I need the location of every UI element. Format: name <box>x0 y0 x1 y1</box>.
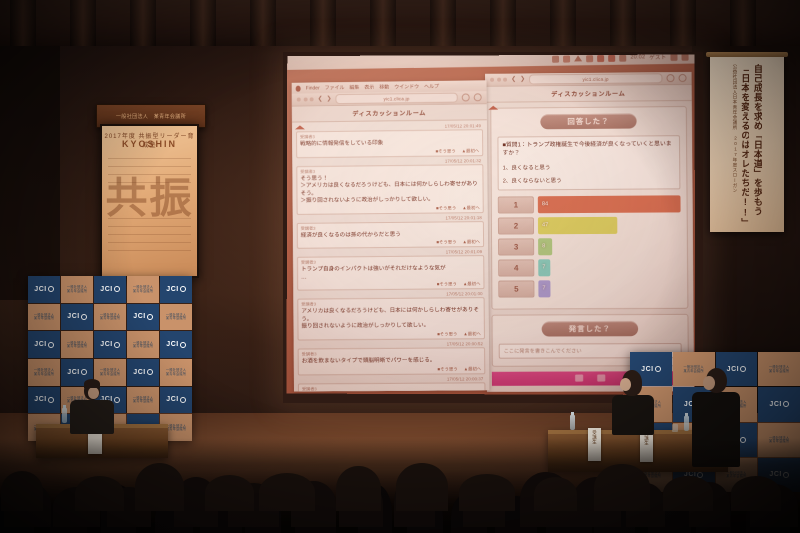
menu-go[interactable]: 移動 <box>379 84 389 91</box>
menu-finder[interactable]: Finder <box>306 85 320 91</box>
backdrop-tile: JCI <box>94 276 126 303</box>
backdrop-tile: 一般社団法人某青年会議所 <box>28 304 60 331</box>
message-actions: ■そう思う▲最初へ <box>301 282 480 289</box>
jump-top-link[interactable]: ▲最初へ <box>463 331 481 337</box>
back-icon-left[interactable]: ❮ <box>318 96 323 102</box>
message-text: アメリカは良くなるだろうけども、日本には何かしらしわ寄せがありそう。振り回されな… <box>301 308 481 332</box>
audience-member <box>259 473 315 511</box>
slogan-banner: 自己成長を求め「日本道」を歩もう 「日本を変えるのはオレたちだ!!」 公益社団法… <box>710 56 784 232</box>
jci-logo: JCI <box>769 401 788 408</box>
menu-view[interactable]: 表示 <box>364 84 374 91</box>
jci-logo: JCI <box>67 313 86 320</box>
bar-value: 84 <box>542 202 548 208</box>
jci-logo: JCI <box>166 341 185 348</box>
browser-window-chat[interactable]: Finder ファイル 編集 表示 移動 ウインドウ ヘルプ ❮ ❯ yic1.… <box>292 80 490 391</box>
jci-logo: JCI <box>100 341 119 348</box>
hall-sign-text: 一般社団法人 某青年会議所 <box>116 113 186 120</box>
search-icon[interactable] <box>670 55 677 61</box>
water-bottle-3 <box>684 416 689 431</box>
poll-option-2: 2、良くならないと思う <box>503 175 676 184</box>
address-bar-right[interactable]: yic1.clica.jp <box>529 73 662 84</box>
chat-message: 17/05/12 20:00:52受講者3お酒を飲まないタイプで頭脳明晰でパワー… <box>298 341 486 375</box>
share-icon[interactable] <box>679 74 687 82</box>
bar-track: 47 <box>538 216 681 234</box>
backdrop-tile: 一般社団法人某青年会議所 <box>758 352 800 386</box>
audience-member <box>663 476 713 511</box>
backdrop-org-text: 一般社団法人某青年会議所 <box>34 314 54 321</box>
slogan-line-2: 「日本を変えるのはオレたちだ!!」 <box>740 64 749 224</box>
display-icon[interactable] <box>563 55 570 62</box>
back-icon[interactable]: ❮ <box>511 77 516 83</box>
bar-category-label: 3 <box>498 238 534 255</box>
jci-logo: JCI <box>133 369 152 376</box>
bar-category-label: 2 <box>498 217 534 234</box>
backdrop-tile: JCI <box>160 387 192 414</box>
banner-rod <box>706 52 788 57</box>
url-text-right: yic1.clica.jp <box>583 76 609 81</box>
agree-link[interactable]: ■そう思う <box>436 148 456 154</box>
bar-category-label: 4 <box>498 259 534 276</box>
agree-link[interactable]: ■そう思う <box>437 282 457 288</box>
jci-logo: JCI <box>34 396 53 403</box>
jump-top-link[interactable]: ▲最初へ <box>462 205 480 211</box>
backdrop-tile: 一般社団法人某青年会議所 <box>61 331 93 358</box>
battery-icon[interactable] <box>619 55 626 62</box>
message-bubble: 受講者3戦略的に情報発信をしている印象■そう思う▲最初へ <box>296 129 483 158</box>
agree-link[interactable]: ■そう思う <box>437 366 457 372</box>
backdrop-tile: 一般社団法人某青年会議所 <box>160 304 192 331</box>
jump-top-link[interactable]: ▲最初へ <box>463 282 481 288</box>
message-text: そう思う！＞アメリカは良くなるだろうけども、日本には何かしらしわ寄せがありそう。… <box>300 174 479 206</box>
chat-message: 17/05/12 20:01:09受講者3トランプ自身のインパクトは強いがそれだ… <box>297 249 485 291</box>
audience-member <box>205 475 255 511</box>
bar-value: 8 <box>542 244 545 250</box>
message-actions: ■そう思う▲最初へ <box>302 366 482 373</box>
menu-help[interactable]: ヘルプ <box>424 83 439 90</box>
backdrop-org-text: 一般社団法人某青年会議所 <box>34 369 54 376</box>
poster-roman-title: KYOSHIN <box>102 139 197 149</box>
question-box: ■質問1：トランプ政権誕生で今後経済が良くなっていくと思いますか？ 1、良くなる… <box>497 135 680 190</box>
bar-fill: 7 <box>538 280 550 297</box>
backdrop-tile: JCI <box>28 387 60 414</box>
conference-hall-scene: 20:02 ゲスト ❮ ❯ yic1.clica.jp <box>0 0 800 533</box>
message-bubble: 受講者3アメリカは良くなるだろうけども、日本には何かしらしわ寄せがありそう。振り… <box>297 298 485 341</box>
backdrop-org-text: 一般社団法人某青年会議所 <box>769 366 789 373</box>
chat-message: 17/05/12 20:01:00受講者3アメリカは良くなるだろうけども、日本に… <box>297 292 485 341</box>
message-actions: ■そう思う▲最初へ <box>301 205 480 213</box>
training-poster: 2017年度 共振型リーダー育成塾 KYOSHIN 共振 <box>100 124 199 278</box>
chat-message: 17/05/12 20:01:18受講者3経済が良くなるのは孫の代からだと思う■… <box>297 215 484 249</box>
bar-track: 7 <box>538 279 681 297</box>
jci-logo: JCI <box>133 313 152 320</box>
backdrop-org-text: 一般社団法人某青年会議所 <box>166 425 186 432</box>
backdrop-tile: JCI <box>127 304 159 331</box>
apple-logo-icon[interactable] <box>296 85 301 91</box>
answered-button-label: 回答した？ <box>567 116 609 127</box>
jci-logo: JCI <box>641 366 660 373</box>
chat-message: 17/05/12 20:01:49受講者3戦略的に情報発信をしている印象■そう思… <box>296 123 483 158</box>
bar-value: 7 <box>542 265 545 271</box>
question-text: ■質問1：トランプ政権誕生で今後経済が良くなっていくと思いますか？ <box>502 140 675 158</box>
bluetooth-icon[interactable] <box>608 55 615 62</box>
message-bubble: 受講者3トランプ自身のインパクトは強いがそれだけなような気が…■そう思う▲最初へ <box>297 255 485 291</box>
backdrop-tile: 一般社団法人某青年会議所 <box>28 359 60 386</box>
audience-member <box>1 471 43 511</box>
bar-category-label: 5 <box>498 280 534 297</box>
message-actions: ■そう思う▲最初へ <box>301 239 480 247</box>
bar-value: 47 <box>542 223 548 229</box>
bar-row[interactable]: 247 <box>498 216 681 234</box>
message-timestamp: 17/05/12 20:00:37 <box>298 376 485 382</box>
bar-fill: 84 <box>538 195 681 213</box>
backdrop-org-text: 一般社団法人某青年会議所 <box>683 366 703 373</box>
message-bubble: 受講者3お酒を飲まないタイプで頭脳明晰でパワーを感じる。■そう思う▲最初へ <box>298 347 486 375</box>
right-app-header: ディスカッションルーム <box>485 85 692 103</box>
right-app-title: ディスカッションルーム <box>551 89 625 99</box>
jump-top-link[interactable]: ▲最初へ <box>464 366 482 372</box>
bar-row[interactable]: 47 <box>498 258 681 276</box>
jump-top-link[interactable]: ▲最初へ <box>463 239 481 245</box>
message-bubble: 受講者3草間くんはどう思う？■そう思う▲最初へ <box>298 382 486 392</box>
post-button-label: 発言した？ <box>569 323 611 334</box>
backdrop-org-text: 一般社団法人某青年会議所 <box>166 314 186 321</box>
bar-track: 84 <box>538 195 681 213</box>
menu-bar-clock: 20:02 <box>630 55 645 61</box>
audience-member <box>336 466 380 511</box>
message-bubble: 受講者3そう思う！＞アメリカは良くなるだろうけども、日本には何かしらしわ寄せがあ… <box>296 164 484 215</box>
backdrop-tile: 一般社団法人某青年会議所 <box>127 387 159 414</box>
menu-edit[interactable]: 編集 <box>349 84 359 91</box>
backdrop-tile: JCI <box>127 359 159 386</box>
bar-track: 8 <box>538 237 681 255</box>
backdrop-tile: 一般社団法人某青年会議所 <box>160 359 192 386</box>
backdrop-tile: JCI <box>28 331 60 358</box>
menu-window[interactable]: ウインドウ <box>394 83 419 90</box>
url-text-left: yic1.clica.jp <box>384 96 410 101</box>
audience-member <box>731 476 781 511</box>
backdrop-tile: JCI <box>160 276 192 303</box>
audience-member <box>594 464 649 511</box>
backdrop-tile: JCI <box>61 304 93 331</box>
jci-logo: JCI <box>34 341 53 348</box>
audience-member <box>135 463 184 511</box>
message-author: 受講者3 <box>302 385 482 392</box>
message-actions: ■そう思う▲最初へ <box>302 331 481 338</box>
audience-member <box>75 476 124 511</box>
agree-link[interactable]: ■そう思う <box>436 240 456 246</box>
message-actions: ■そう思う▲最初へ <box>300 148 479 156</box>
jci-logo: JCI <box>727 366 746 373</box>
bar-fill: 8 <box>538 238 552 255</box>
address-bar-left[interactable]: yic1.clica.jp <box>335 93 457 104</box>
browser-window-poll[interactable]: ❮ ❯ yic1.clica.jp ディスカッションルーム 回答した？ <box>485 72 694 392</box>
question-panel: 回答した？ ■質問1：トランプ政権誕生で今後経済が良くなっていくと思いますか？ … <box>490 106 688 309</box>
bar-category-label: 1 <box>498 196 534 213</box>
message-bubble: 受講者3経済が良くなるのは孫の代からだと思う■そう思う▲最初へ <box>297 221 484 249</box>
slogan-org-line: 公益社団法人日本青年会議所 2017年度スローガン <box>732 64 737 193</box>
backdrop-tile: JCI <box>758 387 800 421</box>
agree-link[interactable]: ■そう思う <box>436 205 456 211</box>
jci-logo: JCI <box>34 286 53 293</box>
message-author: 受講者3 <box>302 350 481 357</box>
input-source-icon[interactable] <box>597 55 604 62</box>
water-bottle <box>62 408 67 423</box>
camera-icon <box>575 375 583 382</box>
window-controls-left[interactable] <box>297 97 314 101</box>
post-button[interactable]: 発言した？ <box>542 321 639 336</box>
poll-option-1: 1、良くなると思う <box>503 162 676 171</box>
backdrop-tile: 一般社団法人某青年会議所 <box>61 276 93 303</box>
backdrop-org-text: 一般社団法人某青年会議所 <box>166 369 186 376</box>
bar-value: 7 <box>542 286 545 292</box>
backdrop-org-text: 一般社団法人某青年会議所 <box>100 314 120 321</box>
window-controls[interactable] <box>490 78 507 82</box>
forward-icon-left[interactable]: ❯ <box>327 96 332 102</box>
stage-curtain <box>0 0 800 46</box>
poll-content: 回答した？ ■質問1：トランプ政権誕生で今後経済が良くなっていくと思いますか？ … <box>485 101 694 392</box>
forward-icon[interactable]: ❯ <box>520 76 525 82</box>
jci-logo: JCI <box>166 396 185 403</box>
reload-icon-left[interactable] <box>462 93 470 101</box>
backdrop-org-text: 一般社団法人某青年会議所 <box>67 286 87 293</box>
share-icon-left[interactable] <box>474 93 482 101</box>
menu-bar-user[interactable]: ゲスト <box>649 55 666 62</box>
comment-placeholder: ここに発言を書きこんでください <box>504 347 582 354</box>
dropbox-icon[interactable] <box>552 55 559 62</box>
backdrop-tile: JCI <box>160 331 192 358</box>
poll-result-chart: 184247384757 <box>498 195 681 297</box>
backdrop-tile: JCI <box>28 276 60 303</box>
backdrop-org-text: 一般社団法人某青年会議所 <box>133 342 153 349</box>
jci-logo: JCI <box>166 286 185 293</box>
message-text: トランプ自身のインパクトは強いがそれだけなような気が… <box>301 265 480 282</box>
bar-track: 7 <box>538 258 681 276</box>
chat-message-list[interactable]: 17/05/12 20:01:49受講者3戦略的に情報発信をしている印象■そう思… <box>292 120 489 391</box>
chat-message: 17/05/12 20:01:32受講者3そう思う！＞アメリカは良くなるだろうけ… <box>296 158 484 215</box>
keyboard-icon <box>597 375 605 382</box>
slogan-line-1: 自己成長を求め「日本道」を歩もう <box>752 64 761 224</box>
backdrop-tile: 一般社団法人某青年会議所 <box>94 304 126 331</box>
notification-center-icon[interactable] <box>681 55 688 61</box>
drinking-glass <box>672 424 678 432</box>
agree-link[interactable]: ■そう思う <box>437 331 457 337</box>
audience-member <box>396 463 449 511</box>
projection-screen: 20:02 ゲスト ❮ ❯ yic1.clica.jp <box>283 52 703 403</box>
backdrop-org-text: 一般社団法人某青年会議所 <box>133 397 153 404</box>
answered-button[interactable]: 回答した？ <box>540 113 636 129</box>
bar-row[interactable]: 57 <box>498 279 681 297</box>
home-icon[interactable] <box>488 89 498 99</box>
bar-row[interactable]: 38 <box>498 237 681 255</box>
bar-row[interactable]: 184 <box>498 195 681 213</box>
jump-top-link[interactable]: ▲最初へ <box>462 148 480 154</box>
message-text: お酒を飲まないタイプで頭脳明晰でパワーを感じる。 <box>302 357 482 366</box>
backdrop-tile: JCI <box>94 331 126 358</box>
reload-icon[interactable] <box>666 74 674 82</box>
jci-logo: JCI <box>67 369 86 376</box>
water-bottle-2 <box>570 415 575 430</box>
jci-logo: JCI <box>100 286 119 293</box>
chat-message: 17/05/12 20:00:37受講者3草間くんはどう思う？■そう思う▲最初へ <box>298 376 486 392</box>
wifi-icon[interactable] <box>574 55 582 61</box>
menu-file[interactable]: ファイル <box>325 84 345 91</box>
audience-member <box>459 474 514 511</box>
left-app-header: ディスカッションルーム <box>292 104 487 122</box>
audience-member <box>534 477 577 511</box>
airplay-icon[interactable] <box>586 55 593 62</box>
bar-fill: 47 <box>538 217 618 235</box>
backdrop-tile: 一般社団法人某青年会議所 <box>127 276 159 303</box>
bar-fill: 7 <box>538 259 550 276</box>
home-icon-left[interactable] <box>295 108 305 118</box>
backdrop-org-text: 一般社団法人某青年会議所 <box>133 286 153 293</box>
backdrop-tile: 一般社団法人某青年会議所 <box>127 331 159 358</box>
left-app-title: ディスカッションルーム <box>352 108 426 118</box>
backdrop-org-text: 一般社団法人某青年会議所 <box>67 342 87 349</box>
backdrop-org-text: 一般社団法人某青年会議所 <box>100 369 120 376</box>
